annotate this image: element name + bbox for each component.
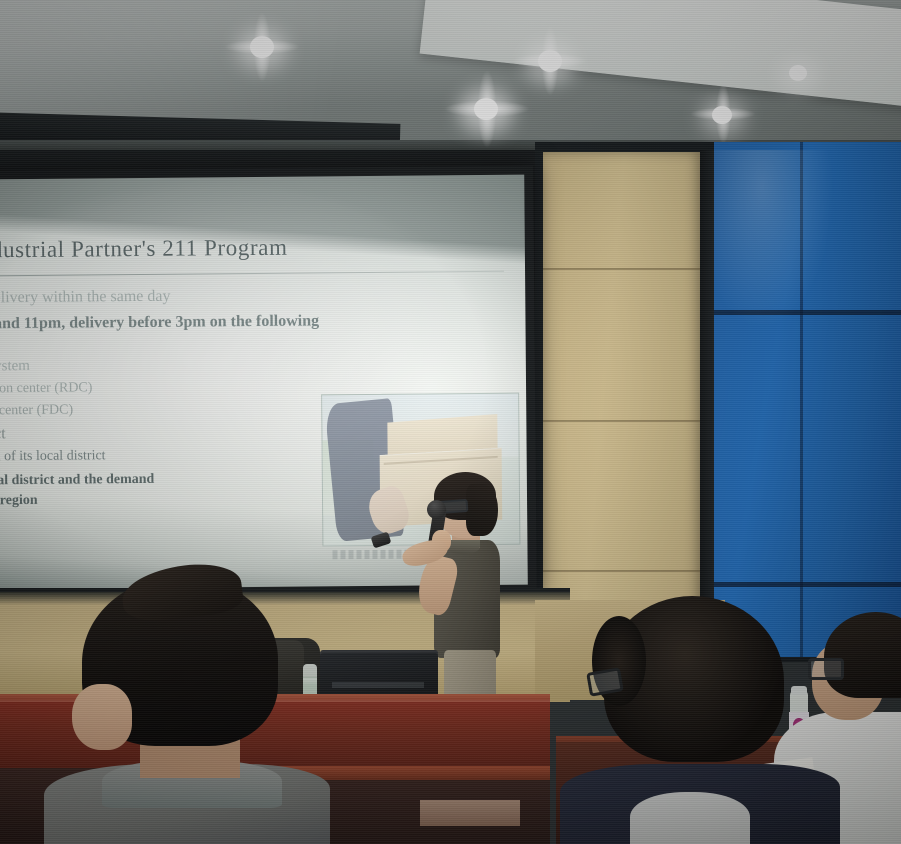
audience-member-gray-hoodie [44,576,334,844]
presenter-hair-back [466,484,498,536]
audience-member-dark-shirt [590,596,820,844]
ceiling-light-2 [538,50,562,72]
panel-seam [543,268,703,270]
photo-scene: ur Industrial Partner's 211 Program re 1… [0,0,901,844]
monitor-highlight [332,682,424,688]
beige-wall-panels [543,152,703,652]
hair [824,612,901,698]
shirt-highlight [630,792,750,844]
panel-seam-horizontal [714,582,901,587]
ceiling-light-5 [789,65,807,81]
hand [72,684,132,750]
ceiling-light-4 [712,106,732,124]
blue-panel-highlight [714,150,834,330]
ceiling-light-1 [250,36,274,58]
ceiling-light-3 [474,98,498,120]
desk-nameplate [420,800,520,826]
panel-seam [543,570,703,572]
presenter-collar [446,540,480,554]
panel-seam [543,420,703,422]
